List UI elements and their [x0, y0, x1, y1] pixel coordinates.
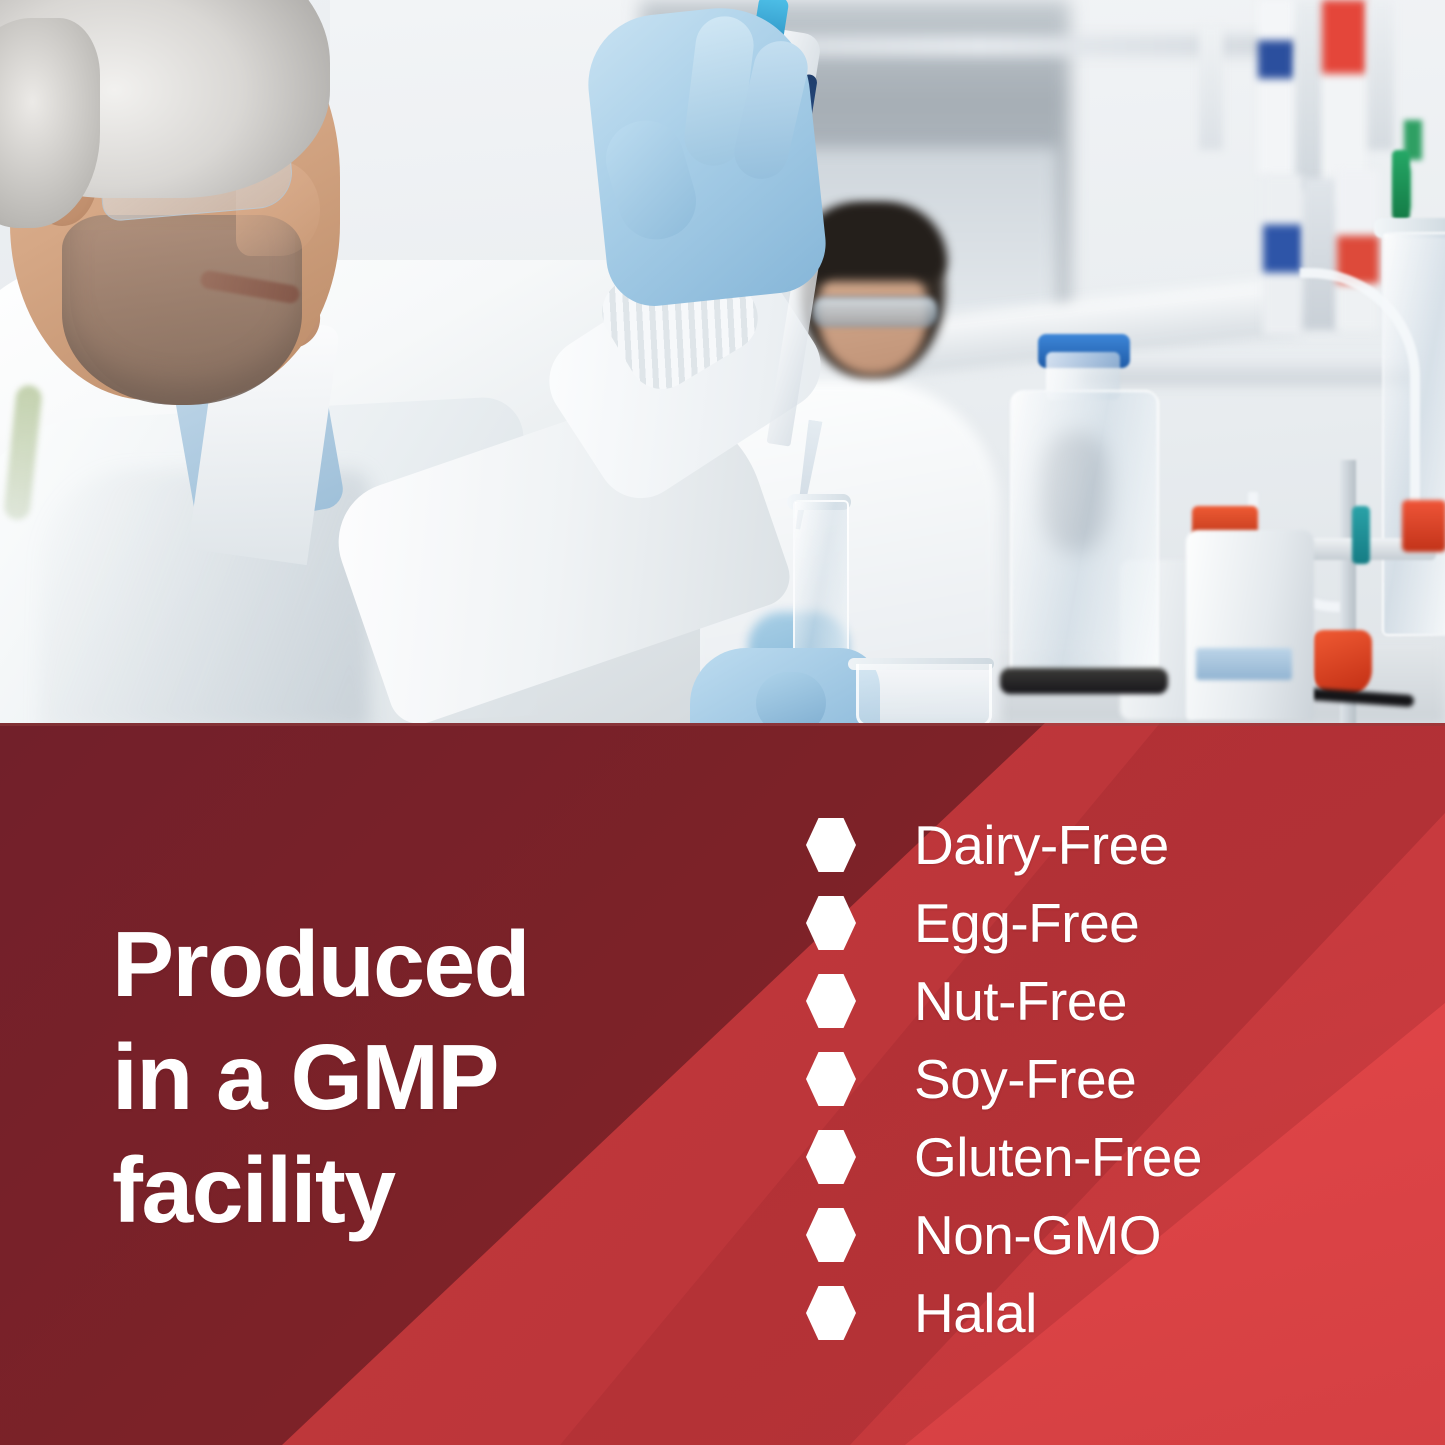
- list-item-label: Non-GMO: [914, 1208, 1161, 1263]
- bottle-base-stand: [1000, 668, 1168, 694]
- shelf-binder: [1368, 0, 1394, 150]
- hexagon-icon: [806, 1286, 856, 1340]
- red-rubber-bulb: [1312, 630, 1372, 696]
- list-item-label: Halal: [914, 1286, 1037, 1341]
- list-item-label: Nut-Free: [914, 974, 1127, 1029]
- hexagon-icon: [806, 818, 856, 872]
- banner-top-edge: [0, 723, 1445, 726]
- green-reagent-marker: [1392, 150, 1410, 220]
- list-item: Nut-Free: [806, 962, 1202, 1040]
- list-item: Non-GMO: [806, 1196, 1202, 1274]
- list-item-label: Dairy-Free: [914, 818, 1169, 873]
- headline-line-2: in a GMP: [112, 1021, 672, 1134]
- list-item: Halal: [806, 1274, 1202, 1352]
- banner-headline: Produced in a GMP facility: [112, 908, 672, 1247]
- hexagon-icon: [806, 1130, 856, 1184]
- list-item: Egg-Free: [806, 884, 1202, 962]
- claims-list: Dairy-Free Egg-Free Nut-Free Soy-Free Gl: [806, 806, 1202, 1352]
- headline-line-1: Produced: [112, 908, 672, 1021]
- teal-clamp-grip: [1352, 506, 1370, 564]
- reagent-bottle: [1010, 390, 1159, 684]
- background-scientist-safety-goggles: [812, 296, 938, 327]
- red-equipment-block: [1402, 500, 1445, 552]
- hexagon-icon: [806, 1052, 856, 1106]
- shelf-binder: [1199, 25, 1223, 150]
- headline-line-3: facility: [112, 1134, 672, 1247]
- list-item: Gluten-Free: [806, 1118, 1202, 1196]
- white-jerrican: [1186, 530, 1314, 720]
- jerrican-label: [1196, 648, 1292, 680]
- shelf-binder: [1263, 175, 1303, 335]
- list-item-label: Gluten-Free: [914, 1130, 1202, 1185]
- hexagon-icon: [806, 974, 856, 1028]
- list-item-label: Egg-Free: [914, 896, 1139, 951]
- shelf-binder: [1258, 0, 1294, 175]
- lower-glove-thumb: [756, 672, 826, 724]
- hexagon-icon: [806, 896, 856, 950]
- laboratory-photo: [0, 0, 1445, 724]
- glass-beaker: [856, 664, 992, 724]
- list-item: Soy-Free: [806, 1040, 1202, 1118]
- list-item-label: Soy-Free: [914, 1052, 1136, 1107]
- list-item: Dairy-Free: [806, 806, 1202, 884]
- hexagon-icon: [806, 1208, 856, 1262]
- product-infographic-page: Produced in a GMP facility Dairy-Free Eg…: [0, 0, 1445, 1445]
